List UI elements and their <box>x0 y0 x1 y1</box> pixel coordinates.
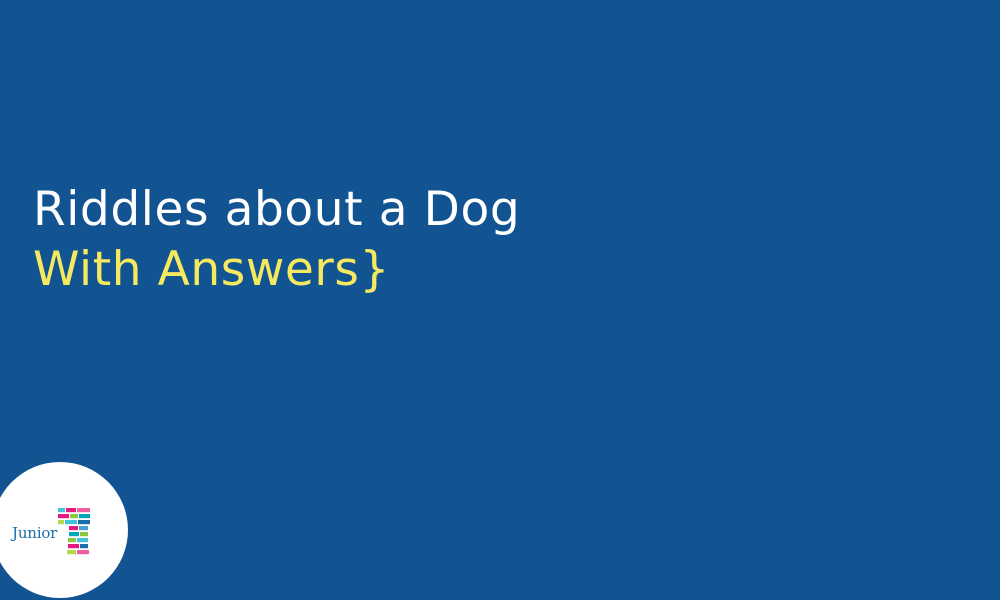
junior-pixel-t-mark <box>58 508 92 558</box>
logo-lockup: Junior <box>12 507 112 559</box>
junior-wordmark: Junior <box>12 525 57 541</box>
logo-badge: Junior <box>0 462 128 598</box>
title-block: Riddles about a Dog With Answers} <box>33 180 733 300</box>
page-title-line-1: Riddles about a Dog <box>33 180 733 240</box>
page-title-line-2: With Answers} <box>33 240 733 300</box>
banner: Riddles about a Dog With Answers} Junior <box>0 0 1000 600</box>
